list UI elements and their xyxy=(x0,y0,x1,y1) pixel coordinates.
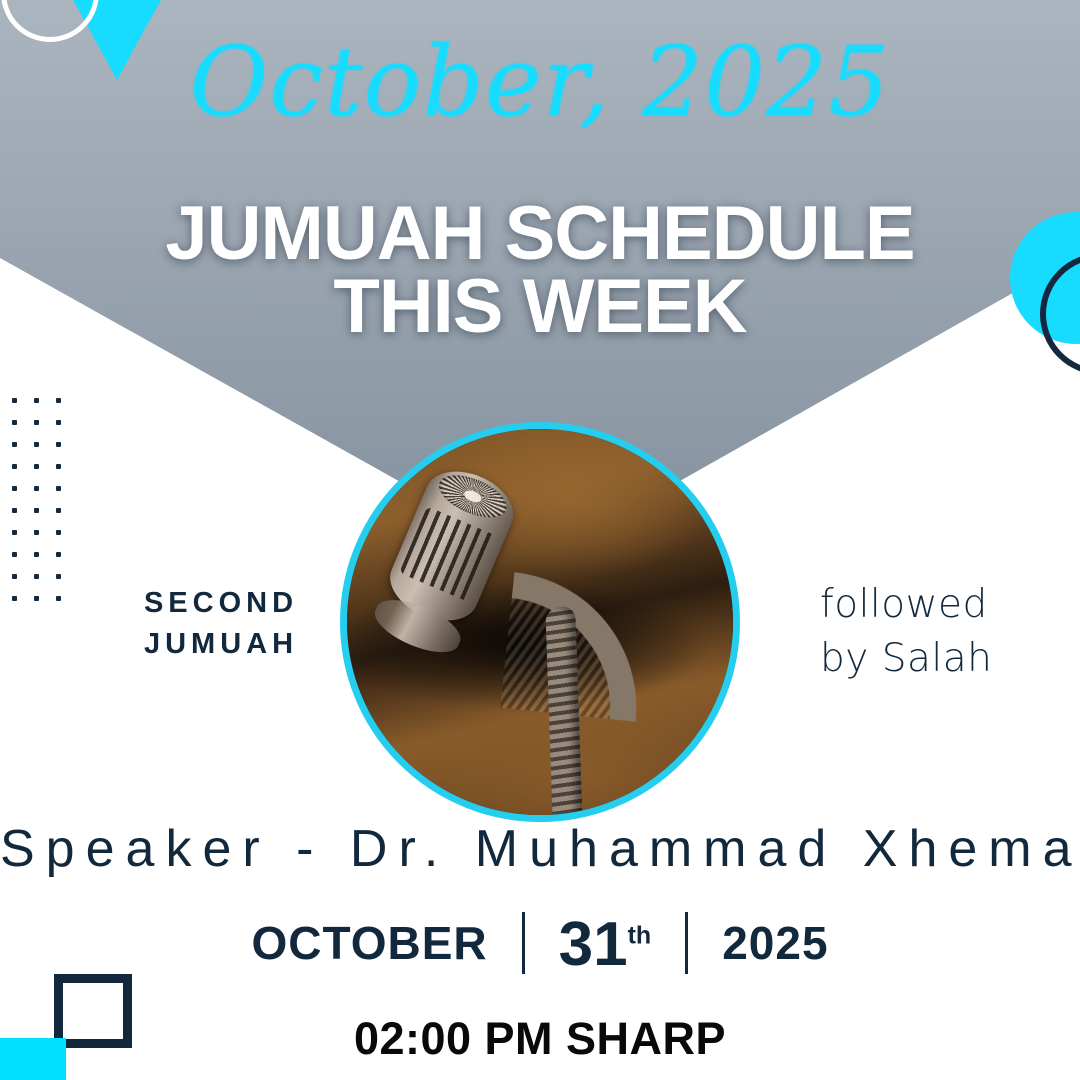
event-time: 02:00 PM SHARP xyxy=(0,1016,1080,1061)
second-jumuah-line-1: SECOND xyxy=(106,583,336,624)
date-month: OCTOBER xyxy=(251,920,487,966)
date-day-number: 31 xyxy=(559,910,628,979)
microphone-vent-slots xyxy=(399,506,497,602)
date-divider-2 xyxy=(685,912,688,974)
month-script-title: October, 2025 xyxy=(0,34,1080,130)
square-solid-icon xyxy=(0,1038,66,1080)
speaker-name: Speaker - Dr. Muhammad Xhemali xyxy=(0,823,1080,875)
date-year: 2025 xyxy=(722,920,828,966)
followed-by-salah-label: followed by Salah xyxy=(820,578,1060,686)
poster-canvas: October, 2025 JUMUAH SCHEDULE THIS WEEK … xyxy=(0,0,1080,1080)
followed-by-salah-line-2: by Salah xyxy=(820,632,1060,686)
second-jumuah-line-2: JUMUAH xyxy=(106,624,336,665)
date-day-suffix: th xyxy=(628,921,652,949)
page-title: JUMUAH SCHEDULE THIS WEEK xyxy=(0,198,1080,344)
second-jumuah-label: SECOND JUMUAH xyxy=(106,583,336,665)
dot-grid-icon xyxy=(12,398,78,618)
followed-by-salah-line-1: followed xyxy=(820,578,1060,632)
microphone-photo xyxy=(340,422,740,822)
event-date-row: OCTOBER 31th 2025 xyxy=(0,912,1080,974)
date-divider-1 xyxy=(522,912,525,974)
square-outline-icon xyxy=(54,974,132,1048)
date-day: 31th xyxy=(559,914,652,976)
headline-line-2: THIS WEEK xyxy=(0,271,1080,344)
